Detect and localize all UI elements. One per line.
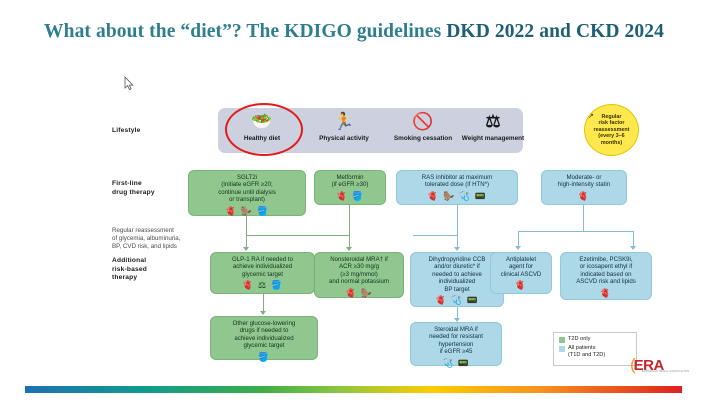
box-icons: 🫀 🦫 bbox=[345, 288, 373, 298]
legend-label: All patients (T1D and T2D) bbox=[568, 345, 605, 359]
page-title-part1: What about the “diet”? The KDIGO guideli… bbox=[44, 21, 446, 42]
box-icons: 🫀 🦫 🩺 📟 bbox=[427, 191, 486, 201]
additional-box-nonsteroidal-mra[interactable]: Nonsteroidal MRA† if ACR ≥30 mg/g (≥3 mg… bbox=[314, 252, 404, 298]
connector-line bbox=[457, 205, 458, 235]
kdigo-algorithm-figure: Lifestyle First-line drug therapy Additi… bbox=[0, 100, 707, 375]
box-text: Ezetimibe, PCSK9i, or icosapent ethyl if… bbox=[576, 256, 636, 286]
connector-line bbox=[246, 216, 247, 235]
connector-line bbox=[583, 205, 584, 231]
box-text: Dihydropyridine CCB and/or diuretic* if … bbox=[429, 256, 486, 293]
row-label-first-line: First-line drug therapy bbox=[112, 180, 155, 197]
additional-box-antiplatelet[interactable]: Antiplatelet agent for clinical ASCVD 🫀 bbox=[490, 252, 552, 294]
box-icons: 🫀 bbox=[578, 191, 590, 201]
first-line-box-sglt2i[interactable]: SGLT2i (Initiate eGFR ≥20; continue unti… bbox=[188, 170, 306, 216]
box-text: GLP-1 RA if needed to achieve individual… bbox=[232, 256, 293, 278]
box-text: Other glucose-lowering drugs if needed t… bbox=[233, 320, 296, 350]
box-text: Steroidal MRA if needed for resistant hy… bbox=[429, 326, 483, 356]
legend-label: T2D only bbox=[568, 336, 590, 343]
additional-box-lipid-therapy[interactable]: Ezetimibe, PCSK9i, or icosapent ethyl if… bbox=[560, 252, 652, 300]
bottom-gradient-bar bbox=[25, 386, 682, 393]
running-person-icon: 🏃 bbox=[304, 110, 384, 134]
connector-line bbox=[263, 294, 264, 312]
bottom-box-steroidal-mra[interactable]: Steroidal MRA if needed for resistant hy… bbox=[410, 322, 502, 366]
box-icons: 🫀 🩺 📟 bbox=[435, 295, 479, 305]
era-logo-subtext: EUROPEAN RENAL ASSOCIATION bbox=[642, 370, 689, 373]
connector-line bbox=[246, 235, 350, 236]
connector-line bbox=[518, 231, 519, 247]
connector-line bbox=[413, 235, 458, 236]
page-title: What about the “diet”? The KDIGO guideli… bbox=[38, 18, 670, 45]
connector-arrow bbox=[346, 247, 352, 251]
box-icons: 🫀 bbox=[600, 288, 612, 298]
row-label-additional: Additional risk-based therapy bbox=[112, 257, 147, 283]
page-title-part2: DKD 2022 and CKD 2024 bbox=[446, 21, 664, 42]
first-line-box-statin[interactable]: Moderate- or high-intensity statin 🫀 bbox=[541, 170, 627, 205]
first-line-box-metformin[interactable]: Metformin (if eGFR ≥30) 🫀 🪣 bbox=[314, 170, 386, 205]
box-icons: 🪣 bbox=[258, 352, 270, 362]
healthy-diet-highlight-ellipse bbox=[225, 103, 303, 156]
mouse-cursor-icon bbox=[124, 76, 135, 91]
box-icons: 🫀 🦫 🪣 bbox=[225, 206, 269, 216]
connector-line bbox=[633, 231, 634, 247]
first-line-box-ras-inhibitor[interactable]: RAS inhibitor at maximum tolerated dose … bbox=[396, 170, 518, 205]
reassessment-note: Regular reassessment of glycemia, albumi… bbox=[112, 227, 180, 252]
lifestyle-item-weight-management[interactable]: ⚖ Weight management bbox=[448, 110, 538, 142]
connector-arrow bbox=[630, 246, 636, 250]
box-text: Nonsteroidal MRA† if ACR ≥30 mg/g (≥3 mg… bbox=[329, 256, 389, 286]
box-text: Moderate- or high-intensity statin bbox=[558, 174, 610, 189]
legend-swatch-green bbox=[559, 337, 565, 343]
legend-swatch-blue bbox=[559, 346, 565, 352]
arrow-icon: ↗ bbox=[588, 112, 594, 120]
connector-arrow bbox=[260, 311, 266, 315]
connector-arrow bbox=[243, 247, 249, 251]
box-text: SGLT2i (Initiate eGFR ≥20; continue unti… bbox=[218, 174, 276, 204]
bottom-box-other-glucose-lowering[interactable]: Other glucose-lowering drugs if needed t… bbox=[210, 316, 318, 360]
additional-box-glp1-ra[interactable]: GLP-1 RA if needed to achieve individual… bbox=[210, 252, 315, 294]
legend-item-all-patients: All patients (T1D and T2D) bbox=[559, 345, 631, 359]
box-text: Metformin (if eGFR ≥30) bbox=[332, 174, 369, 189]
legend-item-t2d-only: T2D only bbox=[559, 336, 631, 343]
box-icons: 🫀 ⚖ 🪣 bbox=[242, 280, 282, 290]
legend: T2D only All patients (T1D and T2D) bbox=[553, 332, 637, 366]
box-icons: 🫀 🪣 bbox=[336, 191, 364, 201]
lifestyle-item-physical-activity[interactable]: 🏃 Physical activity bbox=[304, 110, 384, 142]
lifestyle-item-label: Physical activity bbox=[304, 135, 384, 142]
connector-line bbox=[518, 231, 633, 232]
lifestyle-item-label: Weight management bbox=[448, 135, 538, 142]
slide-canvas: What about the “diet”? The KDIGO guideli… bbox=[0, 0, 707, 403]
connector-line bbox=[349, 205, 350, 235]
box-icons: 🫀 bbox=[515, 280, 527, 290]
connector-arrow bbox=[454, 247, 460, 251]
box-text: RAS inhibitor at maximum tolerated dose … bbox=[422, 174, 492, 189]
weight-scale-icon: ⚖ bbox=[448, 110, 538, 134]
row-label-lifestyle: Lifestyle bbox=[112, 127, 141, 136]
era-logo: ( ERA EUROPEAN RENAL ASSOCIATION bbox=[630, 355, 664, 375]
box-text: Antiplatelet agent for clinical ASCVD bbox=[501, 256, 542, 278]
box-icons: 🩺 📟 bbox=[442, 358, 470, 368]
connector-arrow bbox=[515, 246, 521, 250]
